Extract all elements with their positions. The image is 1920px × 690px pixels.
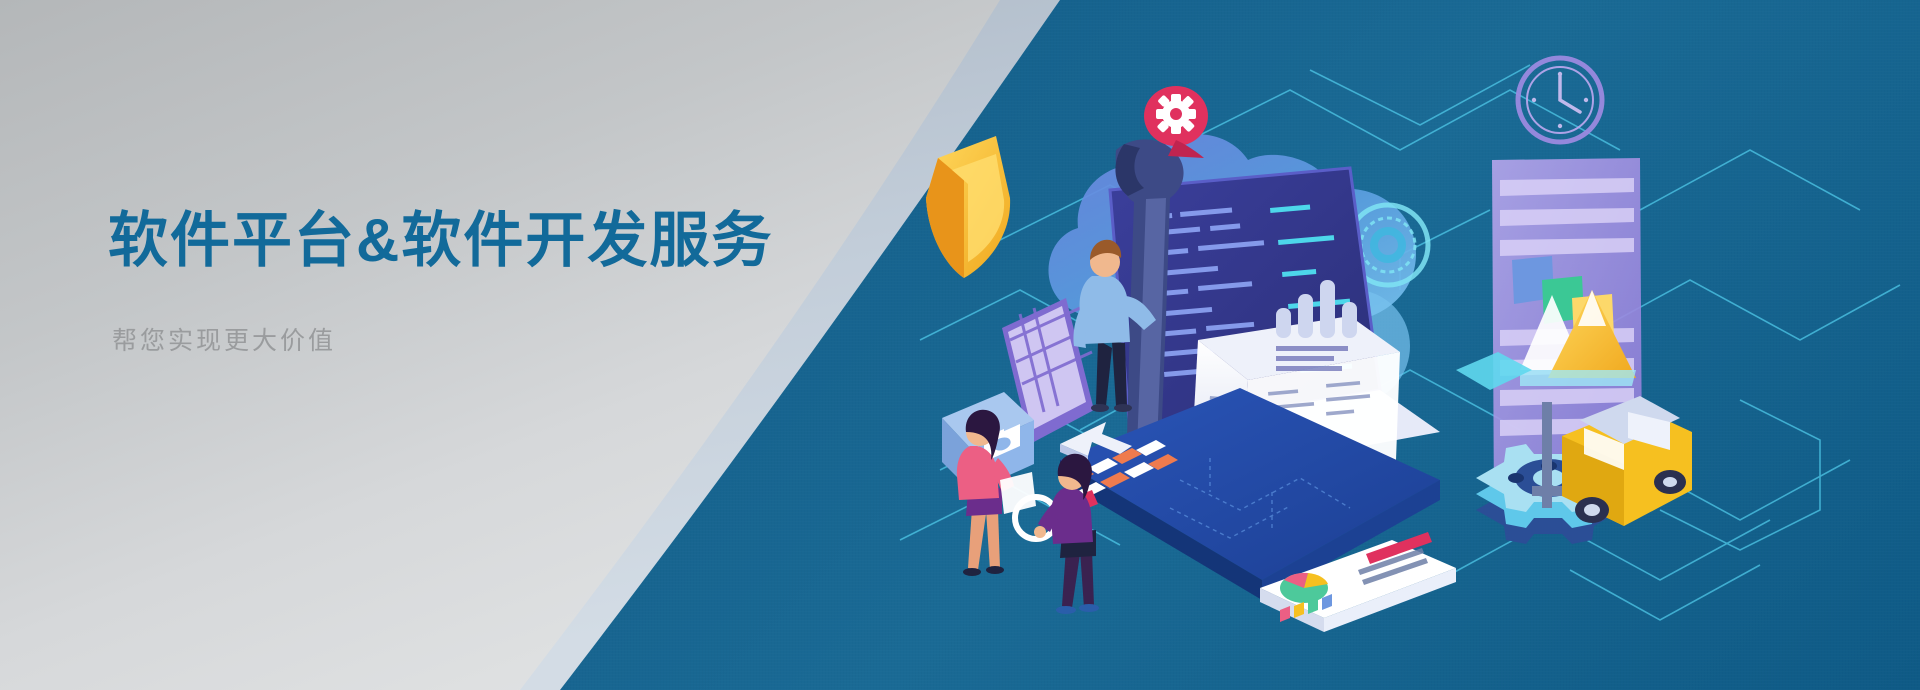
page-title: 软件平台&软件开发服务: [108, 206, 868, 277]
hero-illustration: [880, 40, 1920, 660]
copy-block: 软件平台&软件开发服务 帮您实现更大价值: [108, 206, 868, 357]
hero-banner: 软件平台&软件开发服务 帮您实现更大价值: [0, 0, 1920, 690]
clock-icon: [1518, 58, 1602, 142]
pie-chart-graphic: [1280, 573, 1328, 603]
shield-icon: [926, 136, 1010, 278]
magnifier-figure: [1034, 454, 1099, 614]
page-subtitle: 帮您实现更大价值: [112, 321, 868, 357]
